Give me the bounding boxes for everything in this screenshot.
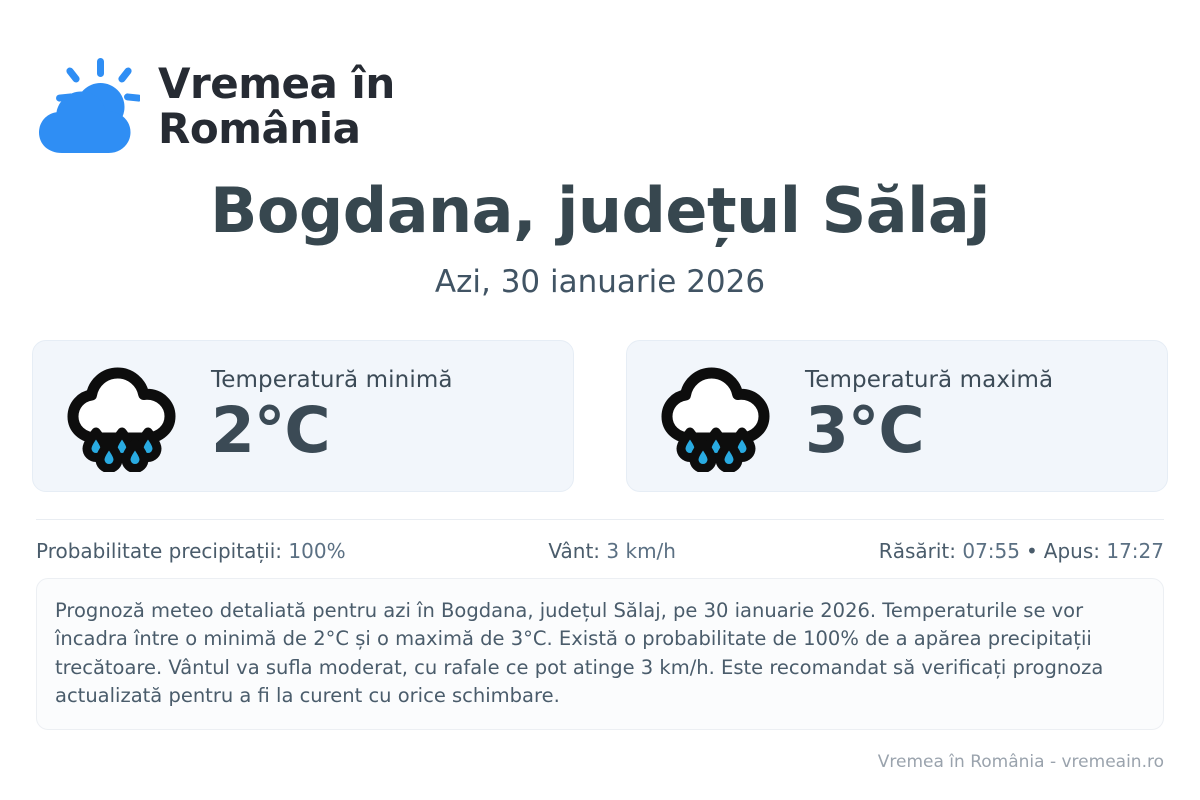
sunset-value: 17:27 (1106, 539, 1164, 563)
temperature-cards: Temperatură minimă 2°C Temperatură maxim… (32, 340, 1168, 492)
card-min-label: Temperatură minimă (211, 367, 453, 395)
site-header[interactable]: Vremea în România (36, 56, 395, 156)
rain-cloud-icon (67, 360, 185, 472)
precipitation-label: Probabilitate precipitații: (36, 539, 288, 563)
stat-sun-times: Răsărit: 07:55•Apus: 17:27 (879, 538, 1164, 564)
sunrise-label: Răsărit: (879, 539, 963, 563)
forecast-description: Prognoză meteo detaliată pentru azi în B… (36, 578, 1164, 730)
card-max-body: Temperatură maximă 3°C (805, 367, 1053, 465)
section-divider (36, 519, 1164, 520)
stat-wind: Vânt: 3 km/h (346, 538, 879, 564)
sunset-label: Apus: (1044, 539, 1107, 563)
wind-value: 3 km/h (606, 539, 676, 563)
weather-stats-row: Probabilitate precipitații: 100% Vânt: 3… (36, 538, 1164, 564)
sun-behind-cloud-icon (36, 56, 140, 156)
rain-cloud-icon (661, 360, 779, 472)
precipitation-value: 100% (288, 539, 345, 563)
weather-page: Vremea în România Bogdana, județul Sălaj… (0, 0, 1200, 800)
stat-precipitation: Probabilitate precipitații: 100% (36, 538, 346, 564)
page-title: Bogdana, județul Sălaj (0, 178, 1200, 243)
card-min-body: Temperatură minimă 2°C (211, 367, 453, 465)
card-min-value: 2°C (211, 397, 453, 465)
bullet-separator-icon: • (1020, 538, 1044, 564)
card-max-label: Temperatură maximă (805, 367, 1053, 395)
wind-label: Vânt: (548, 539, 606, 563)
page-subtitle: Azi, 30 ianuarie 2026 (0, 264, 1200, 301)
brand-name: Vremea în România (158, 61, 395, 152)
card-min-temperature: Temperatură minimă 2°C (32, 340, 574, 492)
sunrise-value: 07:55 (962, 539, 1020, 563)
card-max-value: 3°C (805, 397, 1053, 465)
card-max-temperature: Temperatură maximă 3°C (626, 340, 1168, 492)
footer-attribution: Vremea în România - vremeain.ro (878, 752, 1164, 772)
